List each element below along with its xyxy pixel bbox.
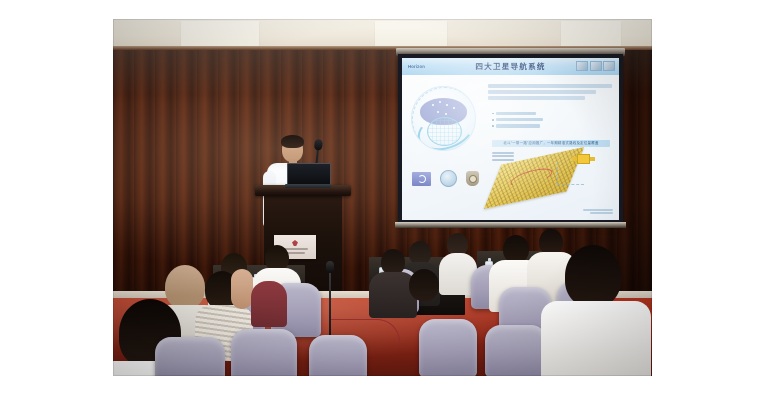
podium-laptop [285,163,331,189]
bullet-text [496,112,536,115]
beidou-emblem-icon [411,86,476,151]
bullet-text [496,124,540,127]
paragraph-line [488,96,585,100]
ceiling-light-panel [561,21,621,46]
audience-body [541,301,651,376]
thumbnail-icon [603,61,615,71]
slide-bullet-list [492,112,612,131]
conference-photo: Horizon 四大卫星导航系统 [113,19,652,376]
bullet-dot-icon [492,113,494,115]
audience-head [565,245,621,307]
audience-body [251,281,287,327]
presentation-slide: Horizon 四大卫星导航系统 [402,58,619,220]
terrain-diagram [490,150,598,202]
galileo-logo-icon [412,172,431,186]
bullet-item [492,112,612,115]
screen-frame: Horizon 四大卫星导航系统 [398,54,623,224]
laptop-base [285,184,331,188]
presenter-hair [281,135,304,148]
legend-line [492,152,514,154]
bullet-item [492,118,612,121]
audience-head [409,269,439,301]
bullet-item [492,124,612,127]
slide-diagram-caption: 北斗"一带一路"应用推广，一年期精准式路线及定位量覆盖 [492,140,610,147]
slide-header-thumbnails [576,61,615,71]
terrain-legend [492,152,514,162]
slide-system-logos [412,170,479,187]
microphone-icon [326,261,334,273]
diagram-caption-text: 北斗"一带一路"应用推广，一年期精准式路线及定位量覆盖 [492,140,610,147]
projection-screen: Horizon 四大卫星导航系统 [398,48,623,230]
glonass-logo-icon [440,170,457,187]
footer-line [590,212,613,214]
audience-chair [231,329,297,376]
thumbnail-icon [576,61,588,71]
audience-chair [155,337,225,376]
paragraph-line [488,84,612,88]
thumbnail-icon [590,61,602,71]
ceiling-light-panel [181,21,259,46]
audience-chair [419,319,477,376]
screen-bottom-bar [395,222,626,228]
footer-line [583,209,613,211]
bullet-dot-icon [492,119,494,121]
page-root: Horizon 四大卫星导航系统 [0,0,758,402]
gps-logo-icon [466,171,479,186]
audience-chair [309,335,367,376]
signal-beam-icon [557,162,584,185]
slide-paragraph [488,84,612,103]
slide-footer [583,209,613,216]
satellite-icon [577,154,590,164]
legend-line [492,155,514,157]
legend-line [492,159,514,161]
venue-logo-icon [292,240,298,246]
laptop-screen [287,163,331,186]
ceiling [113,19,652,49]
ceiling-light-panel [375,21,447,46]
audience-head [165,265,205,309]
audience-head [503,235,529,263]
slide-header-bar: Horizon 四大卫星导航系统 [402,58,619,75]
audience-arm [231,269,253,309]
bullet-dot-icon [492,125,494,127]
audience-chair [485,325,547,376]
paragraph-line [488,90,596,94]
bullet-text [496,118,543,121]
